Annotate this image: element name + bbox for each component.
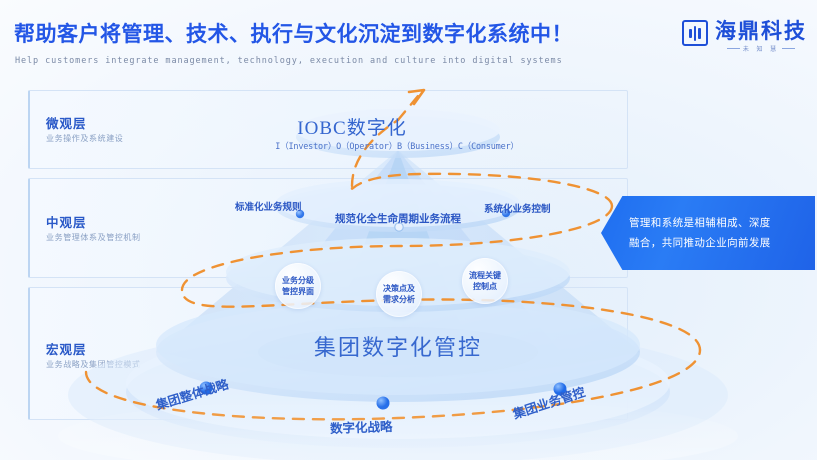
cone-tier3-bubble-tiered-control: 业务分级 管控界面	[275, 263, 321, 309]
cone-tier2-label-lifecycle-process: 规范化全生命周期业务流程	[335, 211, 461, 226]
slide-canvas: 帮助客户将管理、技术、执行与文化沉淀到数字化系统中！ Help customer…	[0, 0, 817, 460]
bubble-line-1: 流程关键	[469, 270, 501, 281]
cone-base-tag-digital-strategy: 数字化战略	[330, 416, 393, 437]
cone-tier3-bubble-decision-analysis: 决策点及 需求分析	[376, 271, 422, 317]
bubble-line-2: 控制点	[473, 281, 497, 292]
bubble-line-1: 决策点及	[383, 283, 415, 294]
callout-text-line-1: 管理和系统是相辅相成、深度	[629, 214, 807, 234]
callout-arrow: 管理和系统是相辅相成、深度 融合，共同推动企业向前发展	[601, 196, 815, 270]
bubble-line-2: 需求分析	[383, 294, 415, 305]
callout-text-line-2: 融合，共同推动企业向前发展	[629, 234, 807, 254]
cone-base-title: 集团数字化管控	[314, 330, 482, 362]
bubble-line-1: 业务分级	[282, 275, 314, 286]
bubble-line-2: 管控界面	[282, 286, 314, 297]
callout-text: 管理和系统是相辅相成、深度 融合，共同推动企业向前发展	[629, 214, 807, 254]
cone-tier2-label-system-control: 系统化业务控制	[484, 201, 551, 215]
cone-tier2-label-standard-rules: 标准化业务规则	[235, 199, 302, 213]
cone-apex-subtitle: I（Investor）O（Operator）B（Business）C（Consu…	[275, 140, 518, 152]
cone-apex-title: IOBC数字化	[297, 113, 406, 140]
cone-tier3-bubble-key-control-point: 流程关键 控制点	[462, 258, 508, 304]
